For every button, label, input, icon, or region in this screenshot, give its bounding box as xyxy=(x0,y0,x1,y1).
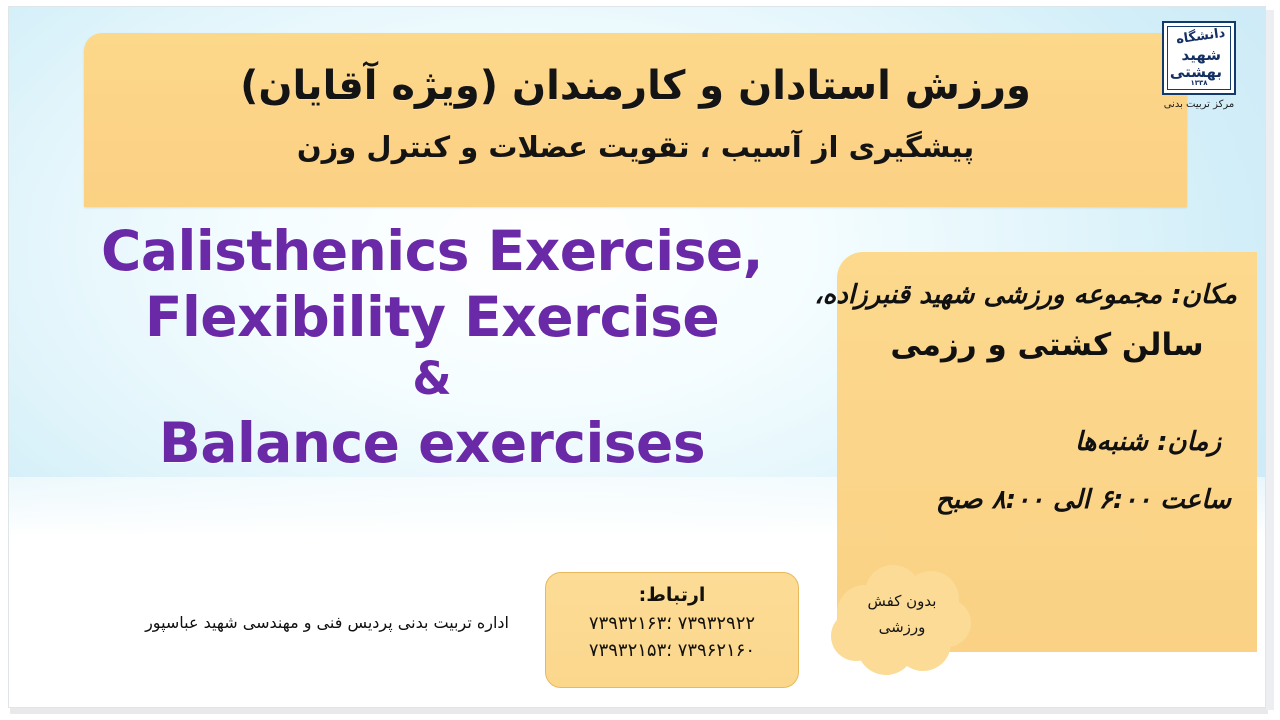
logo-line-1: دانشگاه xyxy=(1175,26,1226,47)
cloud-callout-text: بدون کفش ورزشی xyxy=(831,589,973,640)
info-place-line-1: مکان: مجموعه ورزشی شهید قنبرزاده، xyxy=(863,278,1237,313)
info-time-line-2: ساعت ۶:۰۰ الی ۸:۰۰ صبح xyxy=(863,485,1231,515)
english-ampersand: & xyxy=(27,354,837,404)
logo-year: ۱۳۳۸ xyxy=(1190,79,1207,87)
poster-canvas: ورزش استادان و کارمندان (ویژه آقایان) پی… xyxy=(8,6,1266,708)
cloud-line-2: ورزشی xyxy=(831,615,973,641)
cloud-callout: بدون کفش ورزشی xyxy=(831,555,973,677)
university-logo-inner: دانشگاه شهید بهشتی ۱۳۳۸ xyxy=(1167,26,1231,90)
info-time-line-1: زمان: شنبه‌ها xyxy=(863,427,1231,457)
footer-credit: اداره تربیت بدنی پردیس فنی و مهندسی شهید… xyxy=(89,613,509,632)
english-line-3: Balance exercises xyxy=(27,413,837,475)
page-title: ورزش استادان و کارمندان (ویژه آقایان) xyxy=(84,61,1187,111)
english-line-1: Calisthenics Exercise, xyxy=(27,221,837,283)
cloud-line-1: بدون کفش xyxy=(831,589,973,615)
contact-box: ارتباط: ۷۳۹۳۲۹۲۲ ؛۷۳۹۳۲۱۶۳ ۷۳۹۶۲۱۶۰ ؛۷۳۹… xyxy=(545,572,799,688)
header-panel: ورزش استادان و کارمندان (ویژه آقایان) پی… xyxy=(84,33,1187,207)
contact-title: ارتباط: xyxy=(546,581,798,610)
english-line-2: Flexibility Exercise xyxy=(27,287,837,349)
university-logo-block: دانشگاه شهید بهشتی ۱۳۳۸ مرکز تربیت بدنی xyxy=(1147,21,1251,110)
slide-right-shadow xyxy=(1266,10,1274,710)
university-logo-icon: دانشگاه شهید بهشتی ۱۳۳۸ xyxy=(1162,21,1236,95)
page-subtitle: پیشگیری از آسیب ، تقویت عضلات و کنترل وز… xyxy=(84,129,1187,167)
logo-caption: مرکز تربیت بدنی xyxy=(1147,99,1251,110)
poster-slide: ورزش استادان و کارمندان (ویژه آقایان) پی… xyxy=(0,0,1280,720)
contact-phone-line-1: ۷۳۹۳۲۹۲۲ ؛۷۳۹۳۲۱۶۳ xyxy=(546,610,798,638)
contact-phone-line-2: ۷۳۹۶۲۱۶۰ ؛۷۳۹۳۲۱۵۳ xyxy=(546,637,798,665)
info-place-line-2: سالن کشتی و رزمی xyxy=(863,325,1231,365)
logo-line-2: شهید xyxy=(1182,46,1221,64)
english-headline-block: Calisthenics Exercise, Flexibility Exerc… xyxy=(27,221,837,474)
